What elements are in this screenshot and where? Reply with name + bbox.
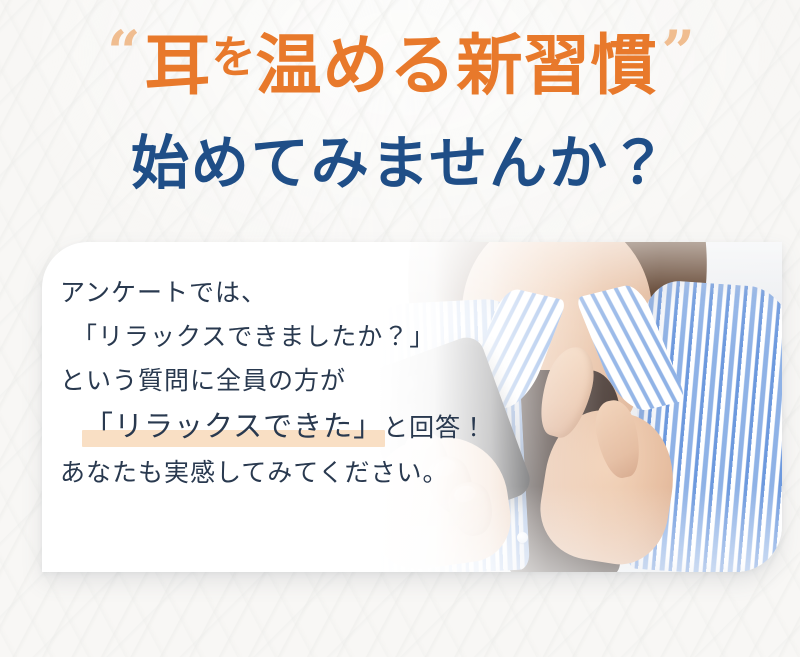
highlight-tail-text: と回答！ [383, 413, 487, 442]
highlight-phrase: 「リラックスできた」 [84, 412, 383, 441]
copy-line-1: アンケートでは、 [60, 280, 482, 305]
headline-line2-text: 始めてみませんか？ [131, 130, 669, 197]
open-quote-icon: “ [107, 32, 138, 74]
headline-line-2: 始めてみませんか？ [0, 130, 800, 197]
headline-block: “耳を温める新習慣” 始めてみませんか？ [0, 30, 800, 197]
card-copy-block: アンケートでは、 「リラックスできましたか？」 という質問に全員の方が 「リラッ… [42, 242, 482, 572]
copy-closing-line: あなたも実感してみてください。 [60, 460, 482, 485]
promo-banner: “耳を温める新習慣” 始めてみませんか？ [0, 0, 800, 657]
copy-line-2: 「リラックスできましたか？」 [60, 324, 482, 349]
headline-line1-kanji-first: 耳 [145, 30, 212, 101]
survey-result-card: アンケートでは、 「リラックスできましたか？」 という質問に全員の方が 「リラッ… [42, 242, 782, 572]
headline-line-1: “耳を温める新習慣” [0, 30, 800, 114]
copy-line-4-highlighted: 「リラックスできた」 と回答！ [60, 412, 482, 441]
copy-line-3: という質問に全員の方が [60, 368, 482, 393]
close-quote-icon: ” [662, 32, 693, 74]
highlight-phrase-text: 「リラックスできた」 [84, 409, 383, 443]
headline-line1-kanji-rest: 温める新習慣 [256, 30, 658, 101]
headline-line1-particle: を [212, 34, 256, 82]
